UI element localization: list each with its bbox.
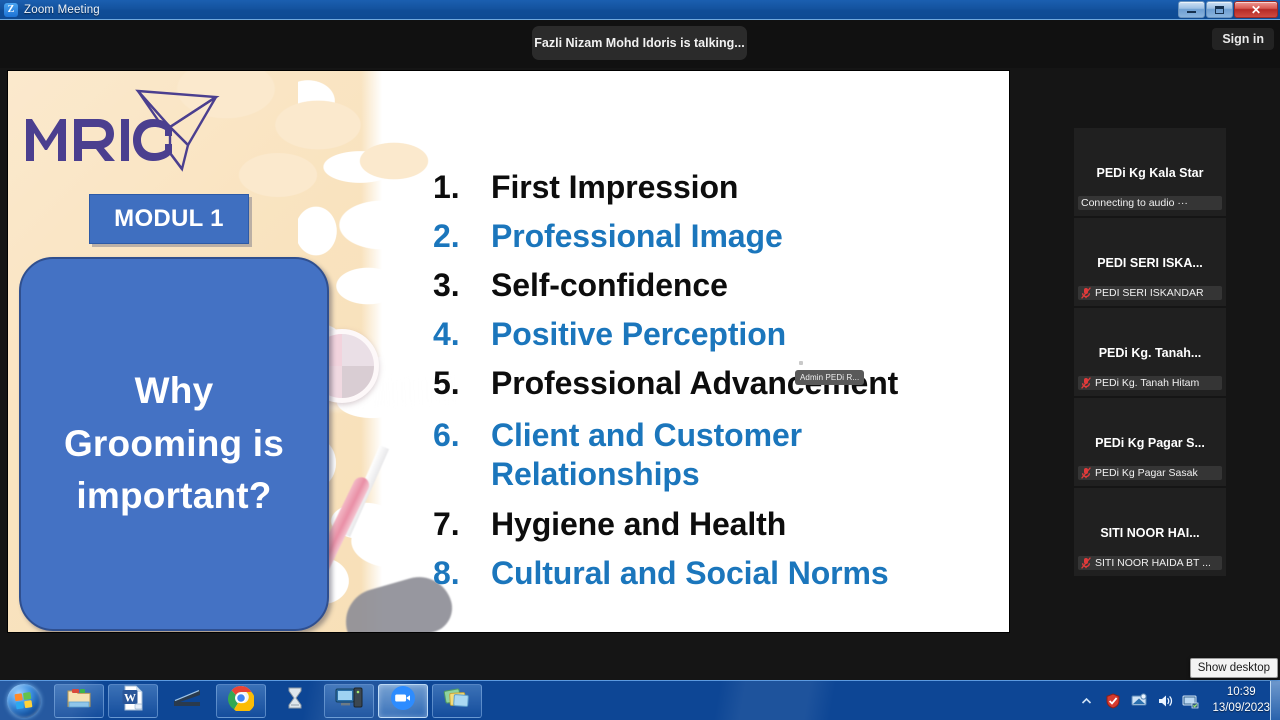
show-hidden-icons-button[interactable] (1078, 693, 1095, 710)
volume-icon[interactable] (1156, 693, 1173, 710)
why-line-1: Why (64, 365, 284, 418)
module-badge: MODUL 1 (89, 194, 249, 244)
zoom-meeting-window: Z Zoom Meeting ✕ Fazli Nizam Mohd Idoris… (0, 0, 1280, 720)
remote-desktop-icon (335, 686, 363, 715)
windows-taskbar: W (0, 680, 1280, 720)
shared-screen-slide[interactable]: MODUL 1 Why Grooming is important? 1. Fi… (7, 70, 1010, 633)
list-item: 3. Self-confidence (433, 269, 993, 301)
svg-text:W: W (124, 690, 136, 704)
participant-thumbnail-strip[interactable]: PEDi Kg Kala Star Connecting to audio ··… (1074, 128, 1226, 578)
list-item-text: Positive Perception (491, 318, 993, 350)
participant-name: PEDi Kg. Tanah... (1074, 346, 1226, 360)
window-controls: ✕ (1178, 1, 1278, 18)
taskbar-item-google-chrome[interactable] (216, 684, 266, 718)
scanner-icon (170, 687, 204, 714)
taskbar-item-microsoft-word[interactable]: W (108, 684, 158, 718)
hourglass-icon (286, 686, 304, 715)
sign-in-button[interactable]: Sign in (1212, 28, 1274, 50)
list-item: 7. Hygiene and Health (433, 508, 993, 540)
participant-name: SITI NOOR HAI... (1074, 526, 1226, 540)
why-line-3: important? (64, 470, 284, 523)
start-button[interactable] (2, 683, 46, 719)
participant-thumbnail[interactable]: SITI NOOR HAI... SITI NOOR HAIDA BT ... (1074, 488, 1226, 576)
list-item: 6. Client and Customer Relationships (433, 416, 993, 494)
participant-status: Connecting to audio ··· (1081, 197, 1188, 209)
zoom-icon (390, 685, 416, 716)
list-item: 8. Cultural and Social Norms (433, 557, 993, 589)
list-item-text: Hygiene and Health (491, 508, 993, 540)
why-grooming-card: Why Grooming is important? (19, 257, 329, 631)
microsoft-word-icon: W (121, 685, 145, 716)
mic-muted-icon (1081, 557, 1091, 569)
participant-footer: PEDi Kg. Tanah Hitam (1078, 376, 1222, 390)
mic-muted-icon (1081, 377, 1091, 389)
window-title: Zoom Meeting (24, 4, 100, 16)
participant-footer: SITI NOOR HAIDA BT ... (1078, 556, 1222, 570)
list-item: 5. Professional Advancement (433, 367, 993, 399)
clock-time: 10:39 (1212, 685, 1270, 701)
participant-status: PEDi Kg. Tanah Hitam (1095, 377, 1199, 389)
list-item-text: Professional Advancement (491, 367, 993, 399)
annotation-pointer-label: Admin PEDi R... (795, 370, 864, 385)
window-title-bar[interactable]: Z Zoom Meeting ✕ (0, 0, 1280, 20)
participant-status: PEDi Kg Pagar Sasak (1095, 467, 1198, 479)
list-item-number: 3. (433, 269, 491, 301)
participant-thumbnail[interactable]: PEDi Kg. Tanah... PEDi Kg. Tanah Hitam (1074, 308, 1226, 396)
participant-thumbnail[interactable]: PEDI SERI ISKA... PEDI SERI ISKANDAR (1074, 218, 1226, 306)
list-item: 2. Professional Image (433, 220, 993, 252)
participant-name: PEDI SERI ISKA... (1074, 256, 1226, 270)
participant-thumbnail[interactable]: PEDi Kg Kala Star Connecting to audio ··… (1074, 128, 1226, 216)
list-item-number: 8. (433, 557, 491, 589)
taskbar-clock[interactable]: 10:39 13/09/2023 (1212, 685, 1270, 716)
why-line-2: Grooming is (64, 418, 284, 471)
taskbar-item-powerpoint[interactable] (432, 684, 482, 718)
list-item-number: 2. (433, 220, 491, 252)
file-explorer-icon (66, 686, 92, 715)
taskbar-item-file-explorer[interactable] (54, 684, 104, 718)
taskbar-item-hourglass[interactable] (270, 684, 320, 718)
close-button[interactable]: ✕ (1234, 1, 1278, 18)
network-icon[interactable] (1130, 693, 1147, 710)
maximize-button[interactable] (1206, 1, 1233, 18)
taskbar-item-remote-desktop[interactable] (324, 684, 374, 718)
minimize-button[interactable] (1178, 1, 1205, 18)
zoom-app-icon: Z (4, 3, 18, 17)
list-item-number: 7. (433, 508, 491, 540)
mric-logo (20, 83, 230, 175)
participant-name: PEDi Kg Kala Star (1074, 166, 1226, 180)
list-item: 1. First Impression (433, 171, 993, 203)
list-item-text: Professional Image (491, 220, 993, 252)
participant-footer: PEDi Kg Pagar Sasak (1078, 466, 1222, 480)
annotation-pointer-dot (799, 361, 803, 365)
list-item-text: Cultural and Social Norms (491, 557, 993, 589)
participant-footer: PEDI SERI ISKANDAR (1078, 286, 1222, 300)
list-item: 4. Positive Perception (433, 318, 993, 350)
mic-muted-icon (1081, 287, 1091, 299)
list-item-number: 5. (433, 367, 491, 399)
list-item-text: First Impression (491, 171, 993, 203)
google-chrome-icon (228, 685, 254, 716)
mic-muted-icon (1081, 467, 1091, 479)
taskbar-item-zoom[interactable] (378, 684, 428, 718)
taskbar-item-scanner[interactable] (162, 684, 212, 718)
slide-numbered-list: 1. First Impression 2. Professional Imag… (433, 171, 993, 606)
meeting-stage: MODUL 1 Why Grooming is important? 1. Fi… (0, 68, 1280, 638)
list-item-text: Self-confidence (491, 269, 993, 301)
clock-date: 13/09/2023 (1212, 701, 1270, 717)
taskbar-items: W (54, 684, 482, 718)
system-tray: 10:39 13/09/2023 (1078, 681, 1280, 720)
antivirus-icon[interactable] (1104, 693, 1121, 710)
participant-status: SITI NOOR HAIDA BT ... (1095, 557, 1211, 569)
active-speaker-notice: Fazli Nizam Mohd Idoris is talking... (532, 26, 747, 60)
list-item-number: 4. (433, 318, 491, 350)
list-item-number: 6. (433, 416, 491, 455)
list-item-text: Client and Customer Relationships (491, 416, 993, 494)
participant-status: PEDI SERI ISKANDAR (1095, 287, 1204, 299)
show-desktop-tooltip: Show desktop (1190, 658, 1278, 678)
powerpoint-icon (443, 686, 471, 715)
action-center-icon[interactable] (1182, 693, 1199, 710)
participant-footer: Connecting to audio ··· (1078, 196, 1222, 210)
participant-thumbnail[interactable]: PEDi Kg Pagar S... PEDi Kg Pagar Sasak (1074, 398, 1226, 486)
participant-name: PEDi Kg Pagar S... (1074, 436, 1226, 450)
list-item-number: 1. (433, 171, 491, 203)
